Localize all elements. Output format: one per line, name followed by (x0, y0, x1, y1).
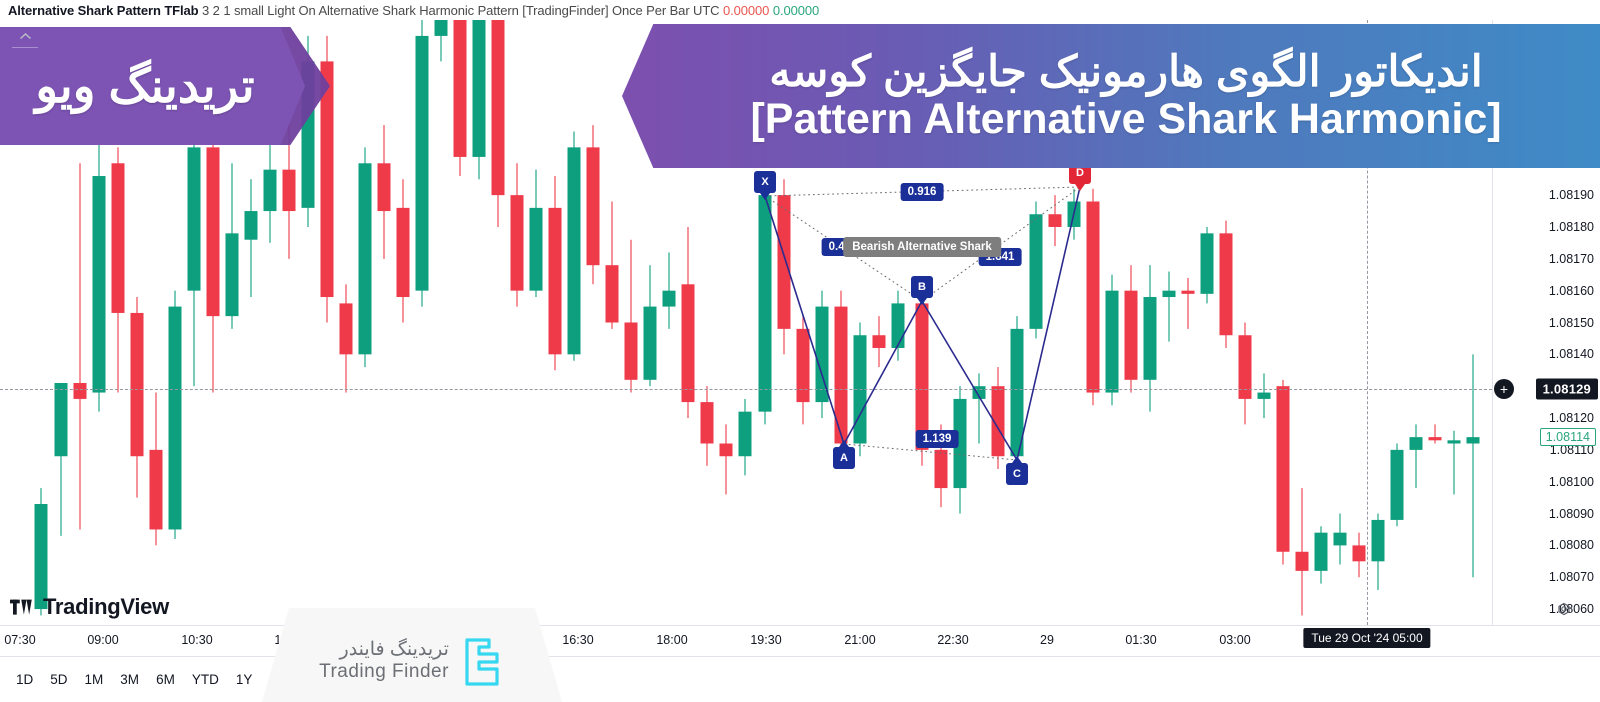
candle-body (973, 386, 986, 399)
pattern-point-label: A (840, 452, 848, 464)
watermark-english: Trading Finder (319, 661, 449, 684)
candle-body (264, 170, 277, 211)
candle-body (1372, 520, 1385, 561)
time-tick: 03:00 (1219, 633, 1250, 647)
range-button-1m[interactable]: 1M (79, 669, 110, 690)
candle-body (150, 450, 163, 530)
range-button-1d[interactable]: 1D (10, 669, 39, 690)
pattern-point-b[interactable]: B (911, 276, 933, 298)
candle-body (1448, 440, 1461, 443)
candle-body (1315, 533, 1328, 571)
left-banner-text: تریدینگ ویو (0, 27, 290, 145)
pattern-point-label: B (918, 281, 926, 293)
candle-body (1277, 386, 1290, 552)
candle-body (835, 307, 848, 444)
candle-body (1011, 329, 1024, 456)
date-range-toolbar[interactable]: 1D5D1M3M6MYTD1Y5YAll (0, 657, 1600, 702)
legend-value-green: 0.00000 (773, 3, 819, 18)
tradingview-wordmark: TradingView (43, 594, 169, 620)
candle-body (606, 265, 619, 322)
time-tick: 01:30 (1125, 633, 1156, 647)
candle-body (131, 313, 144, 456)
legend-indicator-params: 3 2 1 small Light On Alternative Shark H… (202, 3, 719, 18)
candle-body (568, 147, 581, 354)
candle-body (340, 303, 353, 354)
price-tick: 1.08070 (1549, 570, 1594, 584)
pattern-point-c[interactable]: C (1006, 463, 1028, 485)
candle-body (644, 307, 657, 380)
candle-body (112, 163, 125, 313)
price-tick: 1.08140 (1549, 347, 1594, 361)
candle-body (55, 383, 68, 456)
candle-body (892, 303, 905, 348)
candle-body (397, 208, 410, 297)
pattern-ratio-label: 1.139 (916, 430, 959, 448)
pattern-point-label: C (1013, 468, 1021, 480)
range-button-6m[interactable]: 6M (150, 669, 181, 690)
candle-body (1163, 291, 1176, 297)
candle-body (226, 233, 239, 316)
candle-body (1353, 545, 1366, 561)
price-tick: 1.08190 (1549, 188, 1594, 202)
candle-body (1296, 552, 1309, 571)
tradingview-mark-icon (10, 598, 37, 617)
price-tick: 1.08150 (1549, 316, 1594, 330)
time-tick: 29 (1040, 633, 1054, 647)
candle-body (1030, 214, 1043, 329)
candle-body (1334, 533, 1347, 546)
legend-indicator-title: Alternative Shark Pattern TFlab (8, 3, 199, 18)
candle-body (435, 20, 448, 36)
price-tick: 1.08160 (1549, 284, 1594, 298)
eye-icon[interactable] (1554, 599, 1574, 619)
candle-body (1201, 233, 1214, 294)
time-crosshair-label: Tue 29 Oct '24 05:00 (1303, 628, 1430, 648)
candle-body (93, 176, 106, 393)
candle-body (473, 20, 486, 157)
candle-body (1125, 291, 1138, 380)
price-tick: 1.08100 (1549, 475, 1594, 489)
candle-body (492, 20, 505, 195)
candle-body (1429, 437, 1442, 440)
candle-body (935, 450, 948, 488)
candle-body (74, 383, 87, 399)
chevron-up-icon[interactable] (12, 26, 38, 48)
candle-body (1087, 202, 1100, 393)
candle-body (378, 163, 391, 211)
candle-body (759, 195, 772, 412)
range-button-1y[interactable]: 1Y (230, 669, 259, 690)
candle-body (663, 291, 676, 307)
candle-body (1144, 297, 1157, 380)
trading-finder-logo-icon (459, 637, 505, 687)
candle-body (739, 412, 752, 457)
candle-body (416, 36, 429, 291)
pattern-point-label: D (1076, 167, 1084, 179)
time-tick: 07:30 (4, 633, 35, 647)
legend-value-red: 0.00000 (723, 3, 769, 18)
time-tick: 18:00 (656, 633, 687, 647)
candle-body (992, 386, 1005, 456)
left-banner: تریدینگ ویو (0, 27, 330, 145)
candle-body (283, 170, 296, 211)
candle-body (1467, 437, 1480, 443)
candle-body (916, 303, 929, 449)
range-button-ytd[interactable]: YTD (186, 669, 225, 690)
pattern-point-x[interactable]: X (754, 171, 776, 193)
time-axis[interactable]: 07:3009:0010:3012:0013:3015:0016:3018:00… (0, 625, 1600, 657)
watermark-persian: تریدینگ فایندر (319, 640, 449, 661)
range-button-3m[interactable]: 3M (114, 669, 145, 690)
title-banner-persian: اندیکاتور الگوی هارمونیک جایگزین کوسه (769, 50, 1483, 95)
candle-body (816, 307, 829, 403)
candle-body (1391, 450, 1404, 520)
watermark-text: تریدینگ فایندر Trading Finder (319, 640, 449, 684)
candle-body (1410, 437, 1423, 450)
candle-body (359, 163, 372, 354)
tradingview-chart-screenshot: Alternative Shark Pattern TFlab 3 2 1 sm… (0, 0, 1600, 702)
candle-body (530, 208, 543, 291)
candle-body (701, 402, 714, 443)
pattern-point-label: X (761, 176, 768, 188)
candle-body (720, 444, 733, 457)
price-tick: 1.08090 (1549, 507, 1594, 521)
candle-body (778, 195, 791, 329)
candle-body (682, 284, 695, 402)
price-tick: 1.08120 (1549, 411, 1594, 425)
candle-body (188, 147, 201, 290)
price-tick: 1.08180 (1549, 220, 1594, 234)
crosshair-horizontal-line (0, 389, 1492, 390)
time-tick: 10:30 (181, 633, 212, 647)
pattern-name-label: Bearish Alternative Shark (843, 237, 1001, 257)
candle-body (1182, 291, 1195, 294)
time-tick: 22:30 (937, 633, 968, 647)
time-tick: 09:00 (87, 633, 118, 647)
trading-finder-watermark: تریدینگ فایندر Trading Finder (262, 608, 562, 702)
candle-body (1106, 291, 1119, 393)
crosshair-price-label: 1.08129 (1536, 379, 1598, 400)
candle-body (797, 329, 810, 402)
pattern-ratio-label: 0.916 (901, 183, 944, 201)
candle-body (625, 323, 638, 380)
candle-body (207, 147, 220, 316)
tradingview-logo: TradingView (10, 594, 169, 620)
last-price-label: 1.08114 (1540, 428, 1596, 446)
candle-body (511, 195, 524, 291)
pattern-point-a[interactable]: A (833, 447, 855, 469)
title-banner-english: [Pattern Alternative Shark Harmonic] (750, 97, 1501, 142)
candle-body (1220, 233, 1233, 335)
chart-legend[interactable]: Alternative Shark Pattern TFlab 3 2 1 sm… (8, 3, 819, 19)
time-tick: 16:30 (562, 633, 593, 647)
candle-body (873, 335, 886, 348)
candle-body (454, 20, 467, 157)
range-button-5d[interactable]: 5D (44, 669, 73, 690)
candle-body (587, 147, 600, 265)
crosshair-plus-icon[interactable]: + (1494, 379, 1514, 399)
candle-body (1258, 393, 1271, 399)
candle-body (1049, 214, 1062, 227)
candle-body (1068, 202, 1081, 227)
price-tick: 1.08170 (1549, 252, 1594, 266)
title-banner: اندیکاتور الگوی هارمونیک جایگزین کوسه [P… (622, 24, 1600, 168)
candle-body (169, 307, 182, 530)
candle-body (245, 211, 258, 240)
time-tick: 21:00 (844, 633, 875, 647)
time-tick: 19:30 (750, 633, 781, 647)
candle-body (549, 208, 562, 354)
price-tick: 1.08080 (1549, 538, 1594, 552)
